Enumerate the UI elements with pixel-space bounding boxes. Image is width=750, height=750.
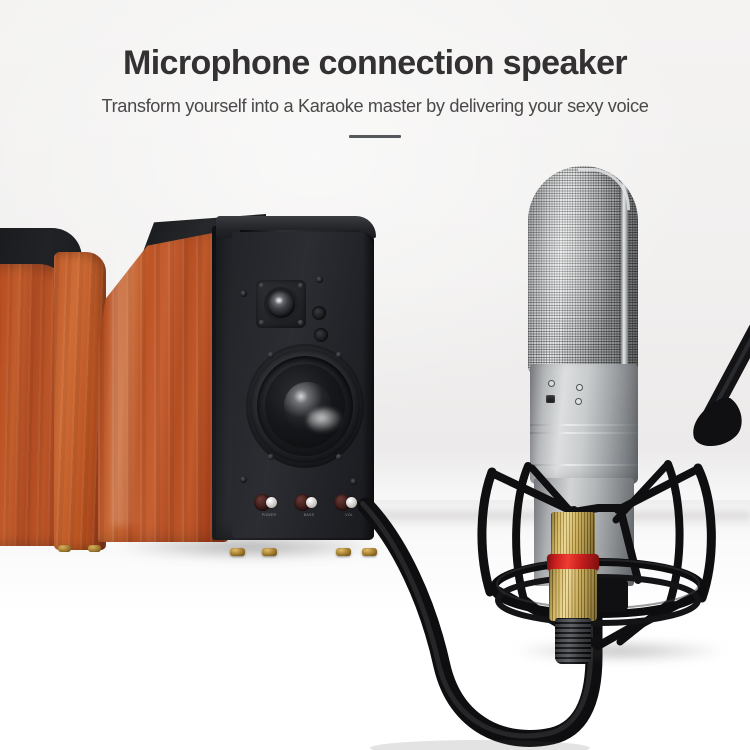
polar-pattern-indicator[interactable] (576, 384, 583, 391)
baffle-screw (240, 290, 247, 297)
product-banner-stage: Microphone connection speaker Transform … (0, 0, 750, 750)
shock-mount-svg (470, 460, 750, 660)
polar-pattern-indicator[interactable] (548, 380, 555, 387)
woofer-screw (268, 352, 274, 358)
baffle-screw (240, 476, 247, 483)
woofer-specular-highlight (307, 408, 342, 433)
mount-leg (482, 472, 492, 592)
xlr-strain-relief-boot (555, 618, 591, 664)
microphone-grille-head (528, 166, 638, 376)
body-band-line (530, 432, 638, 434)
woofer-screw (336, 352, 342, 358)
knob-cap (306, 497, 317, 508)
banner-header: Microphone connection speaker Transform … (0, 0, 750, 138)
second-speaker-foot (58, 545, 71, 552)
knob-cap (266, 497, 277, 508)
tweeter-dome (267, 290, 295, 318)
pad-indicator[interactable] (575, 398, 582, 405)
body-band-line (530, 424, 638, 426)
knob-bass[interactable]: BASS (294, 494, 324, 511)
baffle-port (314, 328, 328, 342)
tweeter-screw (259, 320, 264, 325)
knob-power[interactable]: POWER (254, 494, 284, 511)
microphone-boom-arm (650, 320, 750, 450)
tweeter-screw (298, 320, 303, 325)
tweeter-screw (259, 283, 264, 288)
page-title: Microphone connection speaker (0, 44, 750, 82)
second-speaker-foot (88, 545, 101, 552)
mount-strut (620, 508, 638, 580)
woofer-screw (268, 454, 274, 460)
xlr-gold-barrel-top (551, 512, 595, 558)
microphone-shock-mount (470, 460, 750, 660)
xlr-connector (543, 512, 603, 672)
knob-label: POWER (254, 513, 284, 517)
baffle-port (312, 306, 326, 320)
boom-arm-svg (650, 320, 750, 450)
baffle-screw (316, 276, 323, 283)
page-subtitle: Transform yourself into a Karaoke master… (0, 95, 750, 117)
header-divider (349, 135, 401, 138)
boom-arm-clamp (693, 398, 741, 446)
woofer-driver (246, 344, 364, 468)
tweeter-screw (298, 283, 303, 288)
woofer-screw (336, 454, 342, 460)
tweeter-mounting-plate (256, 280, 306, 328)
speaker-wood-highlight (112, 246, 142, 526)
xlr-gold-barrel-body (549, 569, 597, 621)
condenser-microphone (470, 160, 750, 680)
knob-label: BASS (294, 513, 324, 517)
speaker-foot (230, 548, 245, 556)
pattern-switch[interactable] (546, 395, 555, 403)
speaker-foot (262, 548, 277, 556)
